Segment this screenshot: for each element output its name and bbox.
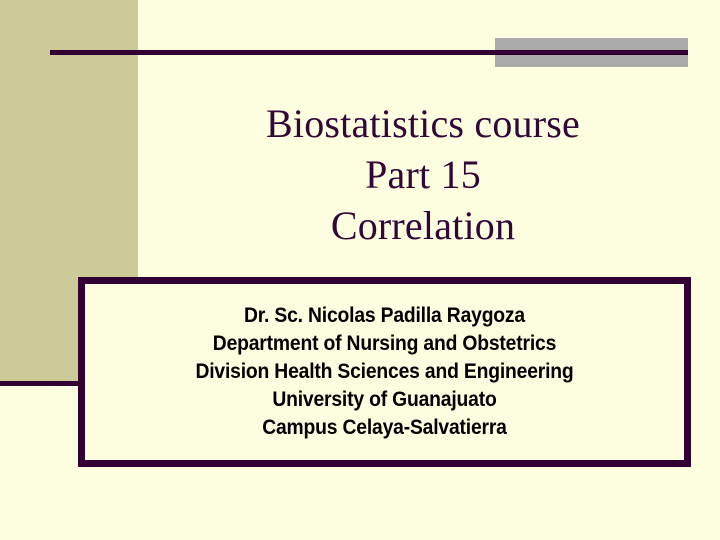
subtitle-line-university: University of Guanajuato [195, 386, 573, 414]
subtitle-line-campus: Campus Celaya-Salvatierra [195, 414, 573, 442]
subtitle-line-department: Department of Nursing and Obstetrics [195, 330, 573, 358]
lower-left-accent-rule [0, 381, 78, 386]
title-line-1: Biostatistics course [138, 98, 708, 149]
subtitle-text-block: Dr. Sc. Nicolas Padilla Raygoza Departme… [195, 302, 573, 442]
presentation-slide: Biostatistics course Part 15 Correlation… [0, 0, 720, 540]
subtitle-line-division: Division Health Sciences and Engineering [195, 358, 573, 386]
slide-title: Biostatistics course Part 15 Correlation [138, 98, 708, 251]
subtitle-frame: Dr. Sc. Nicolas Padilla Raygoza Departme… [78, 277, 691, 467]
top-accent-rule [50, 50, 688, 55]
title-line-2: Part 15 [138, 149, 708, 200]
subtitle-line-author: Dr. Sc. Nicolas Padilla Raygoza [195, 302, 573, 330]
title-line-3: Correlation [138, 200, 708, 251]
